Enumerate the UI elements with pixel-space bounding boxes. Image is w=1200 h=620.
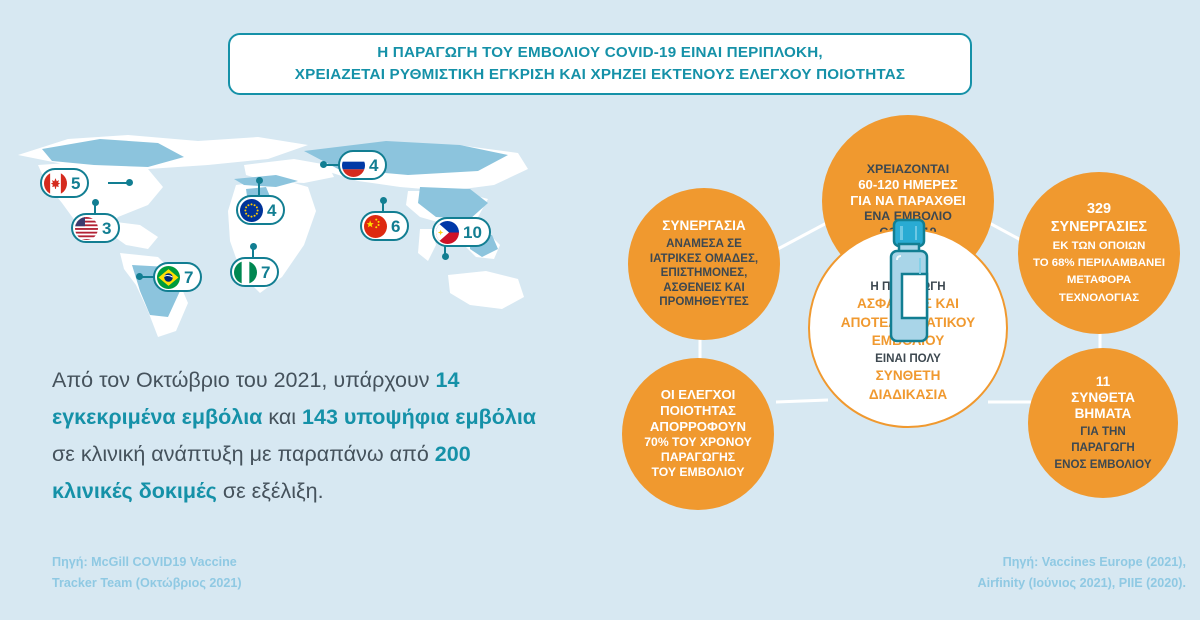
body-part-4: σε εξέλιξη.: [217, 479, 324, 503]
bubble-bright-line-4: ΓΙΑ ΤΗΝ: [1080, 425, 1126, 439]
map-marker-value: 5: [71, 175, 80, 192]
source-left-line-2: Tracker Team (Οκτώβριος 2021): [52, 573, 242, 594]
bubble-right-line-3: ΕΚ ΤΩΝ ΟΠΟΙΩΝ: [1053, 239, 1146, 253]
bubble-right-line-4: ΤΟ 68% ΠΕΡΙΛΑΜΒΑΝΕΙ: [1033, 256, 1165, 270]
title-line-2: ΧΡΕΙΑΖΕΤΑΙ ΡΥΘΜΙΣΤΙΚΗ ΕΓΚΡΙΣΗ ΚΑΙ ΧΡΗΖΕΙ…: [295, 64, 905, 86]
brazil-flag-icon: [157, 266, 180, 289]
bubble-right-line-6: ΤΕΧΝΟΛΟΓΙΑΣ: [1059, 291, 1139, 305]
source-left-line-1: Πηγή: McGill COVID19 Vaccine: [52, 552, 242, 573]
map-marker-china[interactable]: 6: [360, 211, 409, 241]
nigeria-flag-icon: [234, 261, 257, 284]
map-marker-philippines[interactable]: 10: [432, 217, 491, 247]
map-marker-usa[interactable]: 3: [71, 213, 120, 243]
bubble-top-line-3: ΓΙΑ ΝΑ ΠΑΡΑΧΘΕΙ: [850, 193, 965, 209]
map-marker-russia[interactable]: 4: [338, 150, 387, 180]
bubble-left-line-1: ΣΥΝΕΡΓΑΣΙΑ: [662, 218, 745, 234]
eu-flag-icon: [240, 199, 263, 222]
bubble-bright-line-2: ΣΥΝΘΕΤΑ: [1071, 390, 1135, 406]
source-left: Πηγή: McGill COVID19 Vaccine Tracker Tea…: [52, 552, 242, 594]
bubble-left-line-4: ΕΠΙΣΤΗΜΟΝΕΣ,: [661, 266, 748, 280]
bubble-left-line-6: ΠΡΟΜΗΘΕΥΤΕΣ: [659, 295, 748, 309]
map-marker-value: 4: [369, 157, 378, 174]
source-right-line-2: Airfinity (Ιούνιος 2021), PIIE (2020).: [978, 573, 1186, 594]
bubble-left-line-5: ΑΣΘΕΝΕΙΣ ΚΑΙ: [663, 281, 745, 295]
bubble-right-line-2: ΣΥΝΕΡΓΑΣΙΕΣ: [1051, 219, 1147, 236]
bubble-left-line-2: ΑΝΑΜΕΣΑ ΣΕ: [666, 237, 742, 251]
bubble-right-line-5: ΜΕΤΑΦΟΡΑ: [1067, 273, 1131, 287]
bubble-right-line-1: 329: [1087, 201, 1111, 218]
map-marker-canada[interactable]: 5: [40, 168, 89, 198]
title-line-1: Η ΠΑΡΑΓΩΓΗ ΤΟΥ ΕΜΒΟΛΙΟΥ COVID-19 ΕΙΝΑΙ Π…: [377, 42, 823, 64]
bubble-left-line-3: ΙΑΤΡΙΚΕΣ ΟΜΑΔΕΣ,: [650, 252, 758, 266]
body-part-1: Από τον Οκτώβριο του 2021, υπάρχουν: [52, 368, 435, 392]
bubble-bright-line-5: ΠΑΡΑΓΩΓΗ: [1071, 441, 1135, 455]
body-part-2: και: [262, 405, 302, 429]
bubble-bleft-line-5: ΠΑΡΑΓΩΓΗΣ: [661, 450, 735, 465]
vaccine-vial-icon: [888, 218, 930, 343]
bubble-bleft-line-2: ΠΟΙΟΤΗΤΑΣ: [660, 403, 736, 419]
bubble-complex-steps[interactable]: 11 ΣΥΝΘΕΤΑ ΒΗΜΑΤΑ ΓΙΑ ΤΗΝ ΠΑΡΑΓΩΓΗ ΕΝΟΣ …: [1028, 348, 1178, 498]
map-marker-nigeria[interactable]: 7: [230, 257, 279, 287]
bubble-bleft-line-4: 70% ΤΟΥ ΧΡΟΝΟΥ: [644, 435, 751, 450]
canada-flag-icon: [44, 172, 67, 195]
map-marker-value: 3: [102, 220, 111, 237]
center-line-7: ΔΙΑΔΙΚΑΣΙΑ: [869, 386, 947, 404]
map-marker-value: 10: [463, 224, 482, 241]
center-line-6: ΣΥΝΘΕΤΗ: [876, 367, 941, 385]
bubble-bright-line-6: ΕΝΟΣ ΕΜΒΟΛΙΟΥ: [1054, 458, 1151, 472]
map-marker-value: 7: [184, 269, 193, 286]
map-marker-value: 4: [267, 202, 276, 219]
bubble-quality-control[interactable]: ΟΙ ΕΛΕΓΧΟΙ ΠΟΙΟΤΗΤΑΣ ΑΠΟΡΡΟΦΟΥΝ 70% ΤΟΥ …: [622, 358, 774, 510]
source-right: Πηγή: Vaccines Europe (2021), Airfinity …: [978, 552, 1186, 594]
bubble-bright-line-1: 11: [1096, 374, 1110, 390]
title-banner: Η ΠΑΡΑΓΩΓΗ ΤΟΥ ΕΜΒΟΛΙΟΥ COVID-19 ΕΙΝΑΙ Π…: [228, 33, 972, 95]
source-right-line-1: Πηγή: Vaccines Europe (2021),: [978, 552, 1186, 573]
map-marker-brazil[interactable]: 7: [153, 262, 202, 292]
bubble-bright-line-3: ΒΗΜΑΤΑ: [1075, 406, 1132, 422]
map-stem-canada: [108, 182, 128, 184]
philippines-flag-icon: [436, 221, 459, 244]
body-part-3: σε κλινική ανάπτυξη με παραπάνω από: [52, 442, 435, 466]
vaccine-production-diagram: ΧΡΕΙΑΖΟΝΤΑΙ 60-120 ΗΜΕΡΕΣ ΓΙΑ ΝΑ ΠΑΡΑΧΘΕ…: [600, 110, 1200, 510]
bubble-partnerships[interactable]: 329 ΣΥΝΕΡΓΑΣΙΕΣ ΕΚ ΤΩΝ ΟΠΟΙΩΝ ΤΟ 68% ΠΕΡ…: [1018, 172, 1180, 334]
bubble-top-line-1: ΧΡΕΙΑΖΟΝΤΑΙ: [867, 162, 949, 178]
bubble-bleft-line-3: ΑΠΟΡΡΟΦΟΥΝ: [650, 419, 746, 435]
map-marker-eu[interactable]: 4: [236, 195, 285, 225]
map-marker-value: 7: [261, 264, 270, 281]
body-highlight-2: 143 υποψήφια εμβόλια: [302, 405, 536, 429]
russia-flag-icon: [342, 154, 365, 177]
bubble-bleft-line-6: ΤΟΥ ΕΜΒΟΛΙΟΥ: [652, 465, 745, 480]
world-map: 5 3 7 7 4 4: [8, 125, 548, 340]
china-flag-icon: [364, 215, 387, 238]
map-marker-value: 6: [391, 218, 400, 235]
center-line-5: ΕΙΝΑΙ ΠΟΛΥ: [875, 351, 941, 368]
usa-flag-icon: [75, 217, 98, 240]
body-paragraph: Από τον Οκτώβριο του 2021, υπάρχουν 14 ε…: [52, 362, 552, 510]
bubble-bleft-line-1: ΟΙ ΕΛΕΓΧΟΙ: [661, 387, 736, 403]
bubble-top-line-2: 60-120 ΗΜΕΡΕΣ: [858, 177, 958, 193]
bubble-collaboration[interactable]: ΣΥΝΕΡΓΑΣΙΑ ΑΝΑΜΕΣΑ ΣΕ ΙΑΤΡΙΚΕΣ ΟΜΑΔΕΣ, Ε…: [628, 188, 780, 340]
